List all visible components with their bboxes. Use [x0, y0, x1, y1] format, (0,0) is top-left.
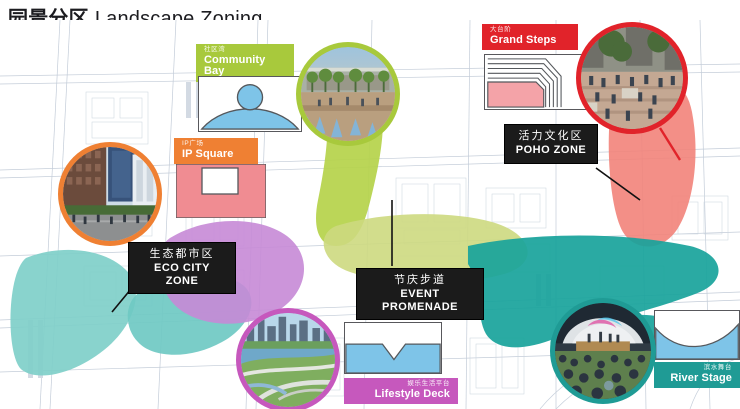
- river-stage-photo[interactable]: [550, 298, 656, 404]
- chip-lifestyle-deck-en: Lifestyle Deck: [352, 389, 450, 401]
- river-stage-card: [654, 310, 740, 360]
- chip-lifestyle-deck[interactable]: 娱乐生活平台 Lifestyle Deck: [344, 378, 458, 404]
- ip-square-card: [176, 164, 266, 218]
- lifestyle-deck-card: [344, 322, 442, 374]
- callout-eco-city-zone-cn: 生态都市区: [139, 248, 225, 260]
- grand-steps-card: [484, 54, 588, 110]
- callout-poho-zone-en: POHO ZONE: [515, 144, 587, 156]
- callout-event-promenade-cn: 节庆步道: [367, 274, 473, 286]
- callout-event-promenade[interactable]: 节庆步道 EVENT PROMENADE: [356, 268, 484, 320]
- callout-event-promenade-en: EVENT PROMENADE: [367, 288, 473, 313]
- chip-ip-square[interactable]: IP广场 IP Square: [174, 138, 258, 164]
- eco-zone-shape-lower: [10, 250, 135, 376]
- chip-river-stage[interactable]: 滨水舞台 River Stage: [654, 362, 740, 388]
- community-bay-photo-image: [301, 47, 395, 141]
- ip-square-photo-image: [63, 147, 157, 241]
- lifestyle-deck-photo-image: [241, 313, 335, 407]
- grand-steps-photo[interactable]: [576, 22, 688, 134]
- chip-river-stage-en: River Stage: [662, 373, 732, 385]
- chip-community-bay-cn: 社区湾: [204, 47, 286, 54]
- community-bay-photo[interactable]: [296, 42, 400, 146]
- callout-eco-city-zone-en: ECO CITY ZONE: [139, 262, 225, 287]
- chip-grand-steps-en: Grand Steps: [490, 35, 570, 47]
- river-stage-photo-image: [555, 303, 651, 399]
- callout-poho-zone-cn: 活力文化区: [515, 130, 587, 142]
- lifestyle-deck-photo[interactable]: [236, 308, 340, 409]
- chip-lifestyle-deck-cn: 娱乐生活平台: [352, 381, 450, 388]
- grand-steps-photo-image: [581, 27, 683, 129]
- landscape-zoning-diagram: 园景分区Landscape Zoning: [0, 0, 740, 409]
- chip-ip-square-cn: IP广场: [182, 141, 250, 148]
- callout-poho-zone[interactable]: 活力文化区 POHO ZONE: [504, 124, 598, 164]
- chip-river-stage-cn: 滨水舞台: [662, 365, 732, 372]
- chip-grand-steps-cn: 大台阶: [490, 27, 570, 34]
- ip-square-photo[interactable]: [58, 142, 162, 246]
- callout-eco-city-zone[interactable]: 生态都市区 ECO CITY ZONE: [128, 242, 236, 294]
- community-bay-card: [198, 76, 302, 132]
- chip-grand-steps[interactable]: 大台阶 Grand Steps: [482, 24, 578, 50]
- chip-ip-square-en: IP Square: [182, 149, 250, 161]
- chip-community-bay-en: Community Bay: [204, 55, 286, 78]
